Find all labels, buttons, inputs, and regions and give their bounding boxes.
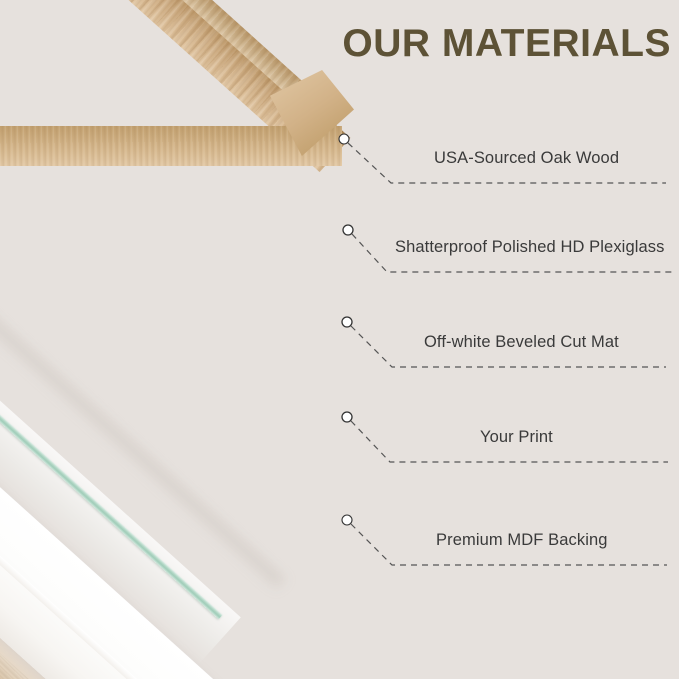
callout-label-mdf-backing: Premium MDF Backing [436,531,608,550]
callout-label-print: Your Print [480,428,553,447]
page-title: OUR MATERIALS [342,22,671,66]
materials-infographic: OUR MATERIALS USA-Sourced Oak Wood Shatt… [0,0,679,679]
callout-label-oak-wood: USA-Sourced Oak Wood [434,149,619,168]
callout-label-mat: Off-white Beveled Cut Mat [424,333,619,352]
callout-label-plexiglass: Shatterproof Polished HD Plexiglass [395,238,664,257]
